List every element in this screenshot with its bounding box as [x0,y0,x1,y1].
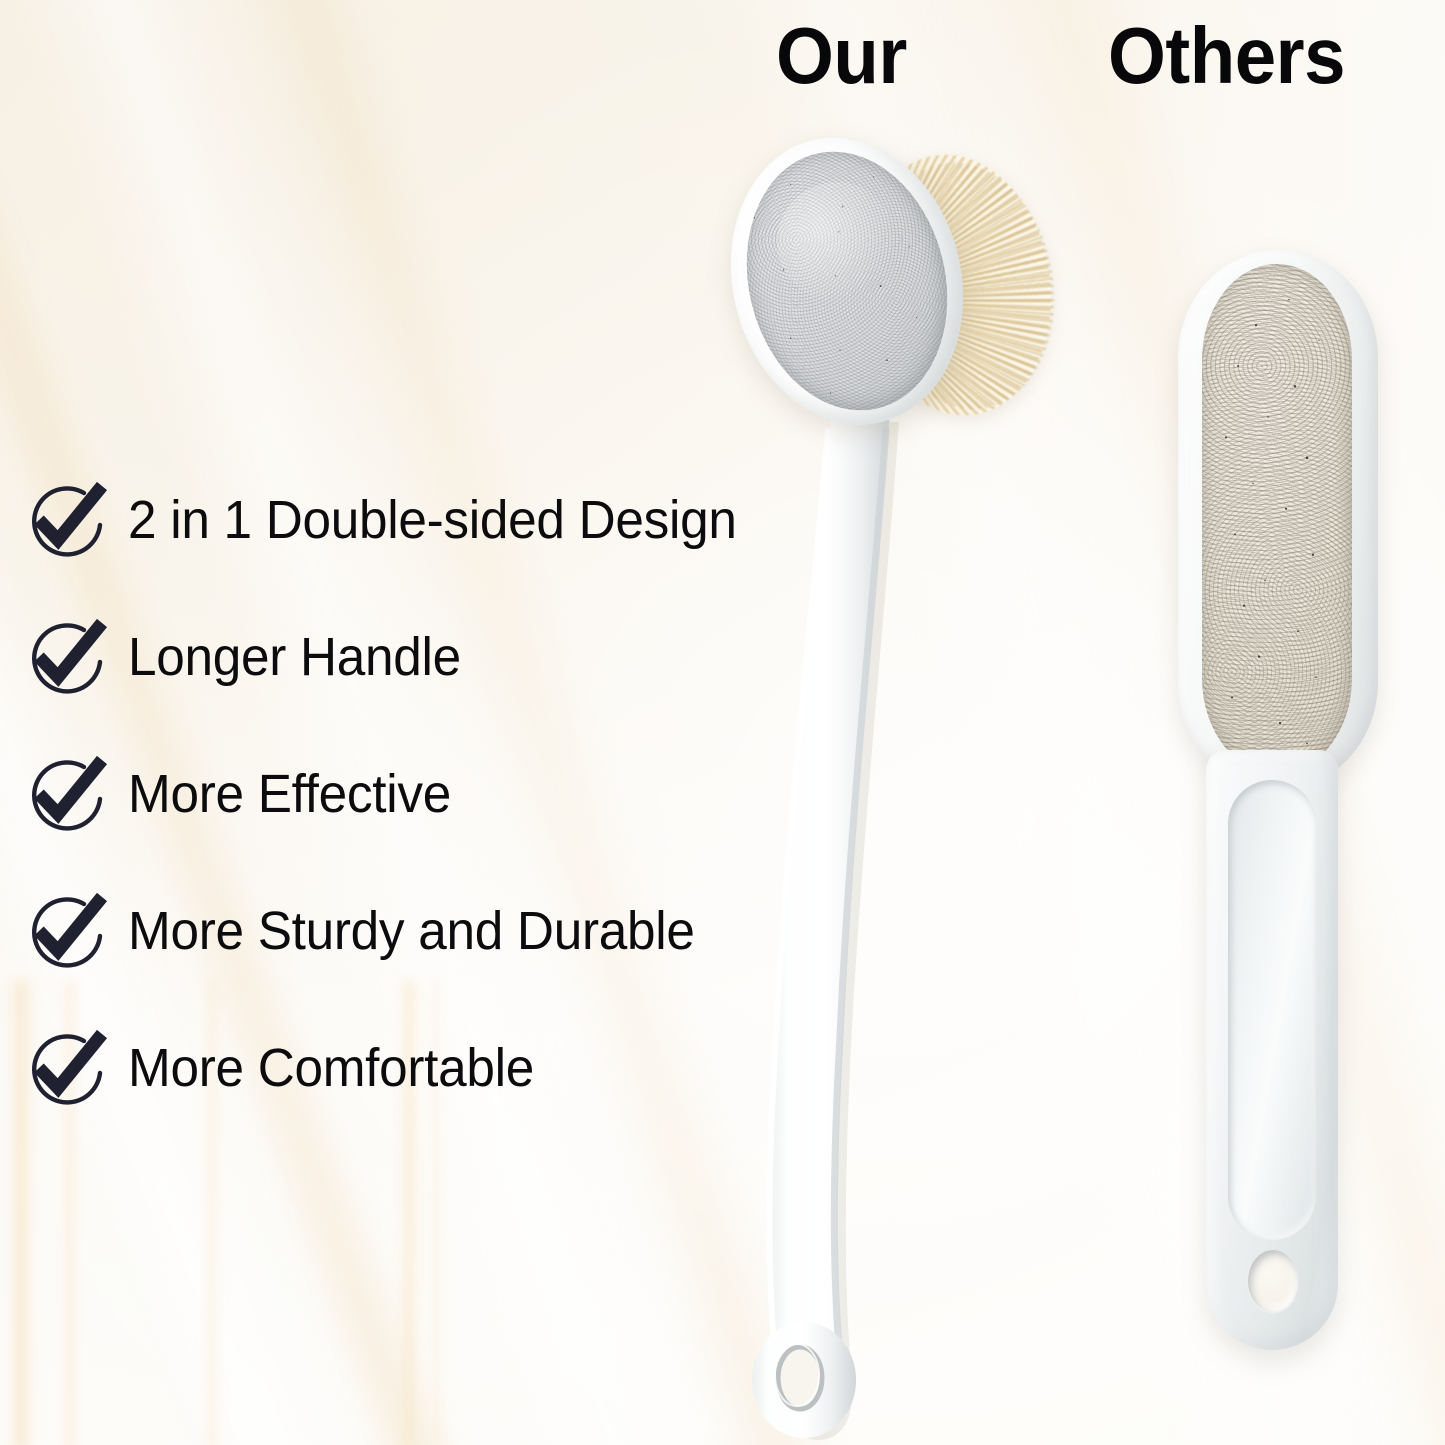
feature-label: Longer Handle [128,629,461,686]
list-item: 2 in 1 Double-sided Design [26,452,786,589]
list-item: More Comfortable [26,1000,786,1137]
product-comparison-image: Our Others 2 in 1 Double-sided Design Lo… [0,0,1445,1445]
feature-label: 2 in 1 Double-sided Design [128,492,737,549]
check-circle-icon [26,754,108,836]
pumice-head-frame-others [1178,250,1378,790]
feature-label: More Effective [128,766,451,823]
list-item: More Effective [26,726,786,863]
column-header-others: Others [1108,16,1345,96]
product-image-ours [700,110,1120,1440]
list-item: Longer Handle [26,589,786,726]
handle-groove [1228,780,1316,1240]
check-circle-icon [26,891,108,973]
list-item: More Sturdy and Durable [26,863,786,1000]
product-image-others [1170,250,1400,1350]
column-header-ours: Our [776,16,907,96]
feature-label: More Sturdy and Durable [128,903,695,960]
check-circle-icon [26,480,108,562]
check-circle-icon [26,1028,108,1110]
feature-list: 2 in 1 Double-sided Design Longer Handle… [26,452,786,1137]
feature-label: More Comfortable [128,1040,534,1097]
brush-head-ours [725,122,1055,442]
pumice-pad-others [1202,264,1352,774]
check-circle-icon [26,617,108,699]
hanging-hole [1248,1250,1298,1312]
flat-handle-others [1206,750,1338,1350]
